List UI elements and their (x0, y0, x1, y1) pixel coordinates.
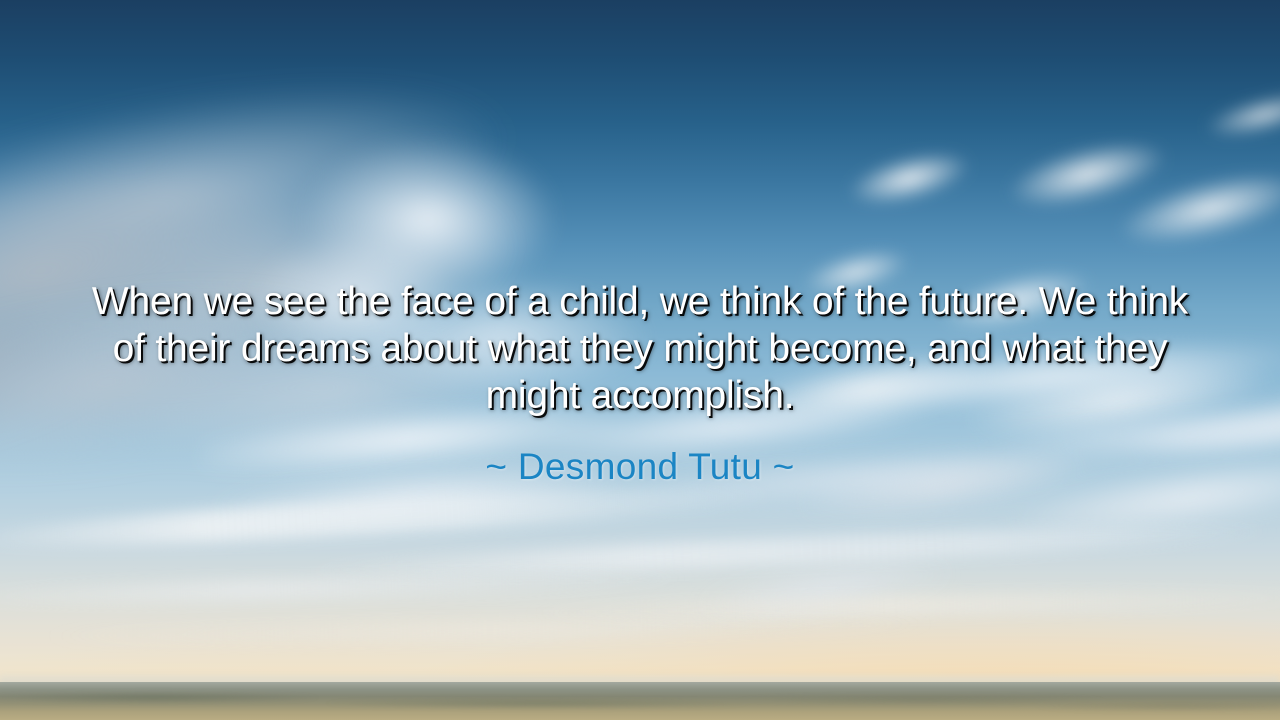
ground-texture (0, 688, 1280, 720)
quote-block: When we see the face of a child, we thin… (0, 278, 1280, 489)
quote-image: When we see the face of a child, we thin… (0, 0, 1280, 720)
quote-text: When we see the face of a child, we thin… (75, 278, 1205, 419)
quote-attribution: ~ Desmond Tutu ~ (40, 445, 1240, 489)
